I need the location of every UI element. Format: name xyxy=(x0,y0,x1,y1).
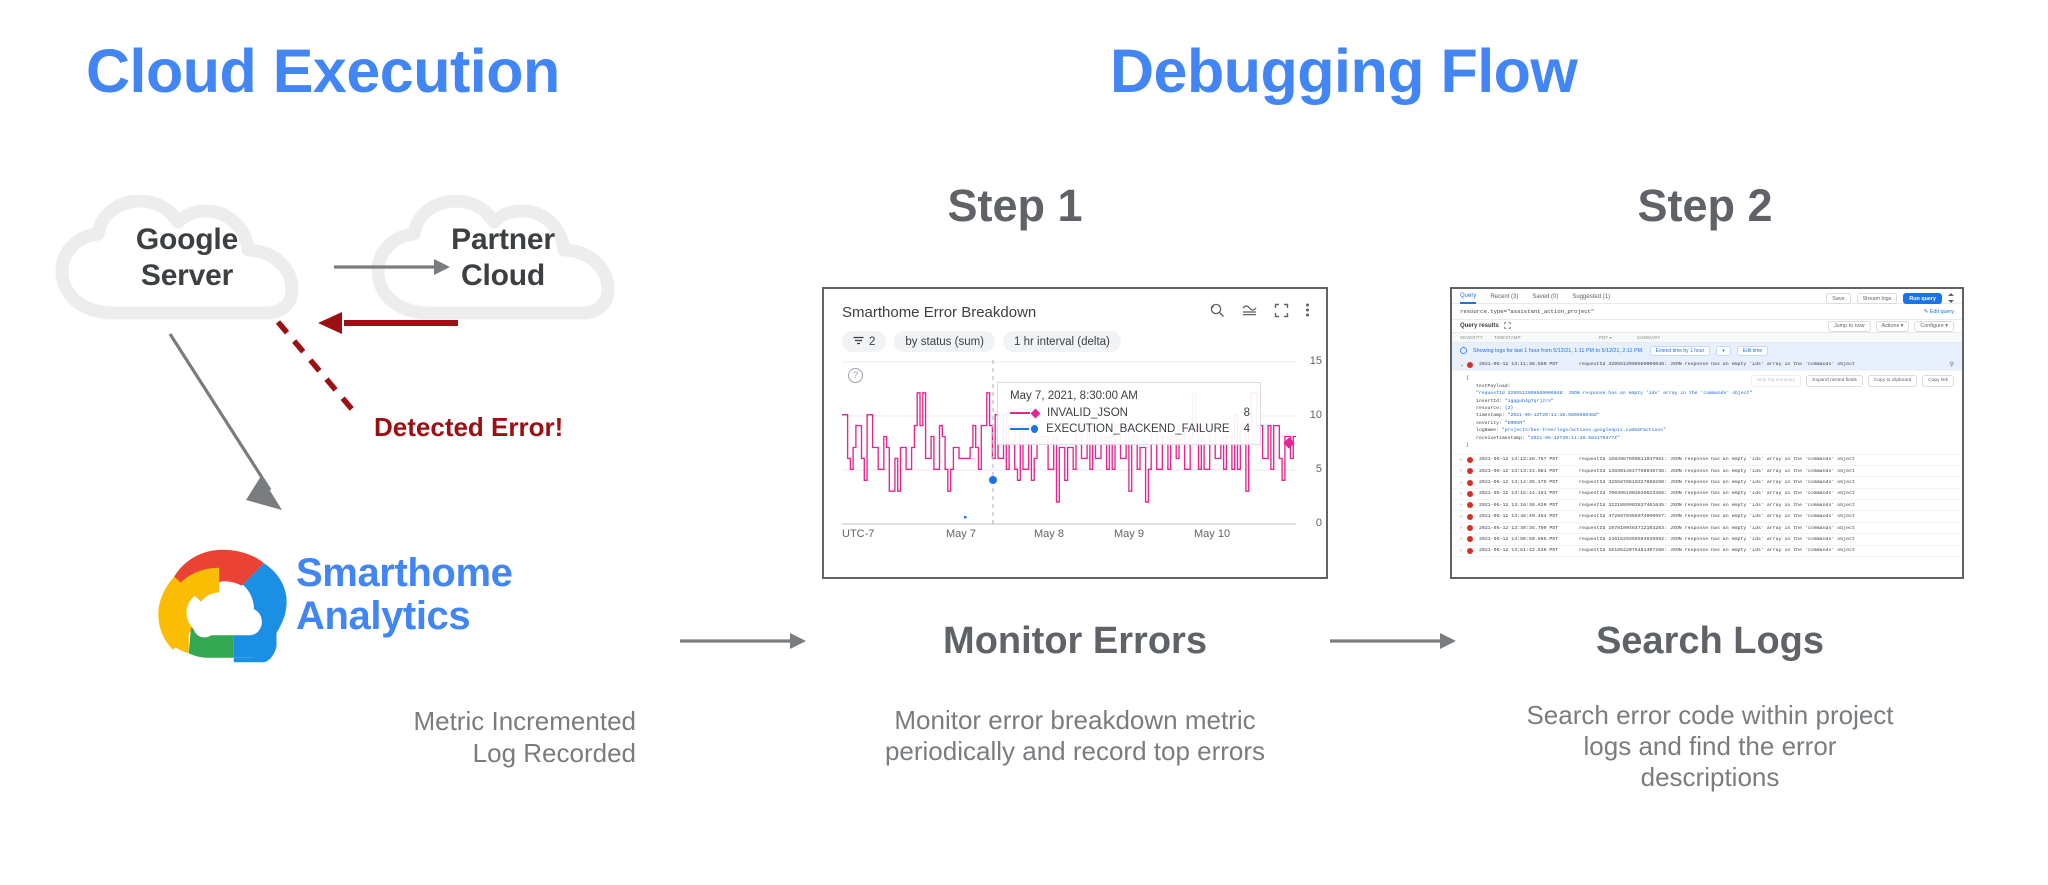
chart-toolbar xyxy=(1209,302,1310,323)
log-timestamp: 2021-05-12 13:48:40.484 PDT xyxy=(1479,514,1579,519)
cloud-label-line2: Cloud xyxy=(461,258,545,293)
log-timestamp: 2021-05-12 13:13:41.081 PDT xyxy=(1479,469,1579,474)
log-detail-json: Hide log summary Expand nested fields Co… xyxy=(1452,371,1962,454)
smarthome-analytics-label: Smarthome Analytics xyxy=(296,552,512,638)
tooltip-series-value: 8 xyxy=(1230,407,1250,419)
log-summary: requestId 3221859983837461645: JSON resp… xyxy=(1579,503,1954,508)
log-summary: requestId 2461529358594935992: JSON resp… xyxy=(1579,537,1954,542)
detail-line: logName: "projects/ben-tree/logs/actions… xyxy=(1466,427,1954,434)
chart-header: Smarthome Error Breakdown xyxy=(824,289,1326,327)
chart-x-axis: UTC-7 May 7 May 8 May 9 May 10 xyxy=(842,526,1292,548)
logs-explorer-card[interactable]: Query Recent (3) Saved (0) Suggested (1)… xyxy=(1450,287,1964,579)
log-summary: requestId 4728970356974000557: JSON resp… xyxy=(1579,514,1954,519)
step-2-title: Step 2 xyxy=(1605,180,1805,232)
x-tick-may-7: May 7 xyxy=(946,528,976,540)
section-title-cloud-execution: Cloud Execution xyxy=(86,36,560,106)
legend-swatch-invalid-json xyxy=(1010,412,1030,414)
step1-caption-body: Monitor error breakdown metric periodica… xyxy=(855,705,1295,767)
collapse-caret-icon[interactable]: ⌄ xyxy=(1460,362,1467,368)
tooltip-row-execution-backend-failure: EXECUTION_BACKEND_FAILURE 4 xyxy=(1010,421,1250,437)
detail-value: "2021-05-12T20:11:38.584179477Z" xyxy=(1528,436,1620,441)
y-tick-10: 10 xyxy=(1310,409,1322,421)
extend-time-button[interactable]: Extend time by 1 hour xyxy=(1650,346,1711,356)
actions-menu-button[interactable]: Actions ▾ xyxy=(1876,321,1910,332)
reset-zoom-icon[interactable] xyxy=(1209,302,1225,323)
copy-link-button[interactable]: Copy link xyxy=(1922,375,1954,386)
log-timestamp: 2021-05-12 13:16:38.620 PDT xyxy=(1479,503,1579,508)
logs-tab-bar: Query Recent (3) Saved (0) Suggested (1)… xyxy=(1452,289,1962,304)
info-icon xyxy=(1460,347,1467,356)
stream-logs-button[interactable]: Stream logs xyxy=(1857,293,1898,304)
time-range-banner: Showing logs for last 1 hour from 5/12/2… xyxy=(1452,343,1962,359)
chip-label: by status (sum) xyxy=(905,336,984,348)
detail-key: timestamp: xyxy=(1476,413,1508,418)
detail-value: "projects/ben-tree/logs/actions.googleap… xyxy=(1502,428,1666,433)
detail-key: { xyxy=(1466,376,1469,381)
chip-label: 1 hr interval (delta) xyxy=(1014,336,1110,348)
log-timestamp: 2021-05-12 13:14:35.175 PDT xyxy=(1479,480,1579,485)
column-severity: SEVERITY xyxy=(1460,335,1494,340)
log-timestamp: 2021-05-12 13:11:38.580 PDT xyxy=(1479,362,1579,367)
log-timestamp: 2021-05-12 13:15:44.181 PDT xyxy=(1479,491,1579,496)
expand-caret-icon[interactable]: › xyxy=(1460,514,1467,520)
chart-title: Smarthome Error Breakdown xyxy=(842,304,1036,321)
log-summary: requestId 1383014647768946738: JSON resp… xyxy=(1579,469,1954,474)
query-results-title: Query results xyxy=(1460,323,1499,329)
left-caption-line2: Log Recorded xyxy=(236,738,636,770)
legend-marker-diamond xyxy=(1031,408,1041,418)
cloud-label-line1: Partner xyxy=(451,222,555,257)
expand-caret-icon[interactable]: › xyxy=(1460,525,1467,531)
step2-caption-body: Search error code within project logs an… xyxy=(1520,700,1900,794)
product-name-line1: Smarthome xyxy=(296,552,512,595)
detail-value: "1gqguh4g7qrjzrs" xyxy=(1505,399,1554,404)
log-row[interactable]: ›2021-05-12 13:13:41.081 PDTrequestId 13… xyxy=(1452,466,1962,477)
chip-label: 2 xyxy=(869,336,875,348)
severity-error-icon xyxy=(1467,362,1473,368)
jump-to-now-button[interactable]: Jump to now xyxy=(1828,321,1871,332)
x-axis-timezone: UTC-7 xyxy=(842,528,874,540)
google-server-label: Google Server xyxy=(52,195,322,320)
expand-nested-fields-button[interactable]: Expand nested fields xyxy=(1806,375,1863,386)
arrow-step1-to-step2 xyxy=(1330,630,1460,652)
cloud-label-line1: Google xyxy=(136,222,238,257)
timezone-label: PDT xyxy=(1599,335,1608,340)
detail-key: receiveTimestamp: xyxy=(1476,436,1528,441)
detail-value: {2} xyxy=(1505,406,1514,411)
log-row[interactable]: ›2021-05-12 13:50:50.605 PDTrequestId 24… xyxy=(1452,534,1962,545)
detected-error-label: Detected Error! xyxy=(374,412,563,443)
save-button[interactable]: Save xyxy=(1826,293,1850,304)
x-tick-may-8: May 8 xyxy=(1034,528,1064,540)
edit-query-label: Edit query xyxy=(1930,309,1954,315)
detail-line: insertId: "1gqguh4g7qrjzrs" xyxy=(1466,398,1954,405)
overflow-menu-icon[interactable] xyxy=(1305,302,1310,323)
chart-filter-chips: 2 by status (sum) 1 hr interval (delta) xyxy=(824,327,1326,358)
y-tick-15: 15 xyxy=(1310,355,1322,367)
log-row[interactable]: ›2021-05-12 13:14:35.175 PDTrequestId 32… xyxy=(1452,477,1962,488)
help-icon[interactable]: ? xyxy=(848,368,863,383)
query-results-actions: Jump to now Actions ▾ Configure ▾ xyxy=(1828,321,1954,332)
fullscreen-icon[interactable] xyxy=(1274,303,1289,323)
edit-query-button[interactable]: ✎ Edit query xyxy=(1924,309,1954,315)
configure-menu-button[interactable]: Configure ▾ xyxy=(1914,321,1954,332)
severity-error-icon xyxy=(1467,536,1473,542)
legend-marker-circle xyxy=(1031,425,1038,433)
tooltip-series-name: EXECUTION_BACKEND_FAILURE xyxy=(1046,423,1229,435)
detail-line: receiveTimestamp: "2021-05-12T20:11:38.5… xyxy=(1466,435,1954,442)
x-tick-may-10: May 10 xyxy=(1194,528,1230,540)
severity-error-icon xyxy=(1467,525,1473,531)
detail-value: "2021-05-12T20:11:38.580568048Z" xyxy=(1508,413,1600,418)
collapse-toggle-icon[interactable] xyxy=(1948,293,1954,305)
tab-saved[interactable]: Saved (0) xyxy=(1532,294,1558,303)
chip-filter-count[interactable]: 2 xyxy=(842,331,886,352)
left-caption: Metric Incremented Log Recorded xyxy=(236,706,636,769)
expand-caret-icon[interactable]: › xyxy=(1460,457,1467,463)
severity-error-icon xyxy=(1467,491,1473,497)
column-summary: SUMMARY xyxy=(1637,335,1660,340)
step1-caption-head: Monitor Errors xyxy=(815,620,1335,663)
detail-line: } xyxy=(1466,442,1954,449)
product-name-line2: Analytics xyxy=(296,595,512,638)
log-summary: requestId 3295512006589006048: JSON resp… xyxy=(1579,362,1950,367)
log-rows-list[interactable]: ›2021-05-12 13:12:28.787 PDTrequestId 16… xyxy=(1452,455,1962,557)
query-text: resource.type="assistant_action_project" xyxy=(1460,308,1594,315)
log-summary: requestId 3255876619227068260: JSON resp… xyxy=(1579,480,1954,485)
arrow-server-to-analytics xyxy=(166,330,306,520)
legend-swatch-execution-backend-failure xyxy=(1010,428,1029,430)
log-timestamp: 2021-05-12 13:12:28.787 PDT xyxy=(1479,457,1579,462)
logs-column-headers: SEVERITY TIMESTAMP PDT ▾ SUMMARY xyxy=(1452,332,1962,343)
google-cloud-logo-icon xyxy=(155,545,290,667)
arrow-google-to-partner xyxy=(334,255,454,279)
expand-caret-icon[interactable]: › xyxy=(1460,468,1467,474)
x-tick-may-9: May 9 xyxy=(1114,528,1144,540)
error-breakdown-chart-card[interactable]: Smarthome Error Breakdown xyxy=(822,287,1328,579)
detail-key: severity: xyxy=(1476,421,1505,426)
y-tick-5: 5 xyxy=(1316,463,1322,475)
chip-by-status[interactable]: by status (sum) xyxy=(894,331,995,352)
column-timezone-select[interactable]: PDT ▾ xyxy=(1599,335,1637,340)
google-cloud-logo xyxy=(155,545,290,667)
query-editor-bar[interactable]: resource.type="assistant_action_project"… xyxy=(1452,304,1962,320)
slide-canvas: Cloud Execution Debugging Flow Step 1 St… xyxy=(0,0,2048,885)
tooltip-series-value: 4 xyxy=(1230,423,1250,435)
step-1-title: Step 1 xyxy=(915,180,1115,232)
log-row[interactable]: ›2021-05-12 13:12:28.787 PDTrequestId 16… xyxy=(1452,455,1962,466)
configure-label: Configure xyxy=(1920,323,1943,329)
chart-tooltip: May 7, 2021, 8:30:00 AM INVALID_JSON 8 E… xyxy=(997,382,1261,445)
log-timestamp: 2021-05-12 13:49:35.700 PDT xyxy=(1479,526,1579,531)
extend-time-dropdown[interactable]: ▾ xyxy=(1716,346,1731,356)
log-summary: requestId 1018522076481407286: JSON resp… xyxy=(1579,548,1954,553)
expand-results-icon[interactable] xyxy=(1504,322,1511,331)
query-results-bar: Query results Jump to now Actions ▾ Conf… xyxy=(1452,320,1962,332)
log-row[interactable]: ›2021-05-12 13:16:38.620 PDTrequestId 32… xyxy=(1452,500,1962,511)
chip-interval[interactable]: 1 hr interval (delta) xyxy=(1003,331,1121,352)
google-server-cloud: Google Server xyxy=(52,195,322,320)
detail-key: resource: xyxy=(1476,406,1505,411)
log-summary: requestId 1078109464712103283: JSON resp… xyxy=(1579,526,1954,531)
y-tick-0: 0 xyxy=(1316,517,1322,529)
tooltip-series-name: INVALID_JSON xyxy=(1047,407,1128,419)
tab-recent[interactable]: Recent (3) xyxy=(1490,294,1518,303)
expand-caret-icon[interactable]: › xyxy=(1460,536,1467,542)
step2-caption-head: Search Logs xyxy=(1450,620,1970,663)
log-row[interactable]: ›2021-05-12 13:49:35.700 PDTrequestId 10… xyxy=(1452,523,1962,534)
severity-error-icon xyxy=(1467,468,1473,474)
detail-key: logName: xyxy=(1476,428,1502,433)
log-detail-actions: Hide log summary Expand nested fields Co… xyxy=(1751,375,1954,386)
tooltip-row-invalid-json: INVALID_JSON 8 xyxy=(1010,405,1250,421)
arrow-analytics-to-step1 xyxy=(680,630,810,652)
log-summary: requestId 1684987950811947981: JSON resp… xyxy=(1579,457,1954,462)
sparkline-icon[interactable] xyxy=(1241,302,1258,323)
cloud-label-line2: Server xyxy=(141,258,233,293)
expand-caret-icon[interactable]: › xyxy=(1460,480,1467,486)
detail-value: "requestId 3295512006589006048: JSON res… xyxy=(1476,391,1752,396)
tab-query[interactable]: Query xyxy=(1460,293,1476,304)
detail-value: "ERROR" xyxy=(1505,421,1525,426)
detail-line: resource: {2} xyxy=(1466,405,1954,412)
run-query-button[interactable]: Run query xyxy=(1903,293,1942,304)
detail-key: } xyxy=(1466,443,1469,448)
log-timestamp: 2021-05-12 13:51:42.538 PDT xyxy=(1479,548,1579,553)
log-timestamp: 2021-05-12 13:50:50.605 PDT xyxy=(1479,537,1579,542)
edit-time-button[interactable]: Edit time xyxy=(1737,346,1768,356)
pin-icon[interactable]: ⚲ xyxy=(1950,361,1954,368)
logs-header-actions: Save Stream logs Run query xyxy=(1826,293,1954,305)
severity-error-icon xyxy=(1467,457,1473,463)
detail-line: "requestId 3295512006589006048: JSON res… xyxy=(1466,390,1954,397)
log-summary: requestId 7003951003830523355: JSON resp… xyxy=(1579,491,1954,496)
log-row-selected[interactable]: ⌄ 2021-05-12 13:11:38.580 PDT requestId … xyxy=(1452,359,1962,371)
section-title-debugging-flow: Debugging Flow xyxy=(1110,36,1577,106)
tab-suggested[interactable]: Suggested (1) xyxy=(1572,294,1610,303)
expand-caret-icon[interactable]: › xyxy=(1460,491,1467,497)
time-range-text: Showing logs for last 1 hour from 5/12/2… xyxy=(1473,348,1644,354)
severity-error-icon xyxy=(1467,480,1473,486)
severity-error-icon xyxy=(1467,502,1473,508)
copy-to-clipboard-button[interactable]: Copy to clipboard xyxy=(1868,375,1917,386)
expand-caret-icon[interactable]: › xyxy=(1460,548,1467,554)
column-timestamp: TIMESTAMP xyxy=(1494,335,1599,340)
detail-line: severity: "ERROR" xyxy=(1466,420,1954,427)
left-caption-line1: Metric Incremented xyxy=(236,706,636,738)
hide-log-summary-button[interactable]: Hide log summary xyxy=(1751,375,1802,386)
log-row[interactable]: ›2021-05-12 13:51:42.538 PDTrequestId 10… xyxy=(1452,546,1962,557)
filter-icon xyxy=(853,336,864,348)
severity-error-icon xyxy=(1467,514,1473,520)
tooltip-timestamp: May 7, 2021, 8:30:00 AM xyxy=(1010,390,1250,402)
actions-label: Actions xyxy=(1882,323,1900,329)
detail-key: textPayload: xyxy=(1476,384,1511,389)
detail-key: insertId: xyxy=(1476,399,1505,404)
detail-line: timestamp: "2021-05-12T20:11:38.58056804… xyxy=(1466,412,1954,419)
log-row[interactable]: ›2021-05-12 13:15:44.181 PDTrequestId 70… xyxy=(1452,489,1962,500)
log-row[interactable]: ›2021-05-12 13:48:40.484 PDTrequestId 47… xyxy=(1452,511,1962,522)
severity-error-icon xyxy=(1467,548,1473,554)
chart-plot-area[interactable]: ? 15 10 5 0 May 7, 2021, 8:30:00 AM xyxy=(842,360,1292,526)
expand-caret-icon[interactable]: › xyxy=(1460,502,1467,508)
